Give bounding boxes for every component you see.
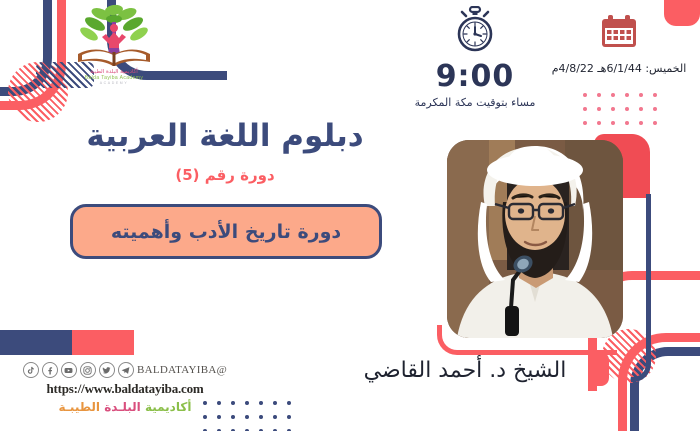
- telegram-icon[interactable]: [118, 362, 134, 378]
- poster-canvas: أكاديمية البلدة الطيبة Balda Tayiba Acad…: [0, 0, 700, 431]
- speaker-name: الشيخ د. أحمد القاضي: [330, 358, 600, 383]
- social-row: @BALDATAYIBA: [10, 362, 240, 378]
- academy-logo: أكاديمية البلدة الطيبة Balda Tayiba Acad…: [60, 4, 168, 96]
- tree-book-logo-icon: [75, 4, 153, 68]
- footer: @BALDATAYIBA https://www.baldatayiba.com: [10, 362, 240, 414]
- decor-bar-red: [72, 330, 134, 355]
- website-url[interactable]: https://www.baldatayiba.com: [10, 381, 240, 397]
- speaker-portrait-illustration: [447, 140, 623, 338]
- tiktok-icon[interactable]: [23, 362, 39, 378]
- instagram-icon[interactable]: [80, 362, 96, 378]
- date-block: الخميس: 6/1/44هـ 4/8/22م: [548, 14, 690, 75]
- academy-name-part2: البلـدة: [104, 400, 141, 414]
- decor-bar-navy: [0, 330, 72, 355]
- course-topic-label: دورة تاريخ الأدب وأهميته: [111, 221, 341, 243]
- calendar-icon: [599, 14, 639, 52]
- youtube-icon[interactable]: [61, 362, 77, 378]
- time-block: 9:00 مساء بتوقيت مكة المكرمة: [410, 6, 540, 111]
- social-handle: @BALDATAYIBA: [137, 364, 227, 376]
- speaker-portrait: [447, 140, 623, 338]
- time-value: 9:00: [410, 62, 540, 92]
- time-note: مساء بتوقيت مكة المكرمة: [410, 96, 540, 111]
- academy-name-part3: الطيبـة: [59, 400, 100, 414]
- facebook-icon[interactable]: [42, 362, 58, 378]
- speaker-photo-frame: [447, 140, 632, 345]
- decor-photo-edge-navy: [631, 194, 651, 382]
- academy-name-part1: أكاديمية: [145, 400, 191, 414]
- decor-dot-grid-pink: [578, 88, 662, 130]
- course-topic-banner: دورة تاريخ الأدب وأهميته: [70, 204, 382, 259]
- course-number: دورة رقم (5): [50, 166, 400, 184]
- academy-name: أكاديمية البلـدة الطيبـة: [10, 400, 240, 414]
- page-title: دبلوم اللغة العربية: [50, 118, 400, 154]
- twitter-icon[interactable]: [99, 362, 115, 378]
- date-value: الخميس: 6/1/44هـ 4/8/22م: [548, 62, 690, 75]
- logo-tagline: ACADEMY: [100, 81, 129, 85]
- stopwatch-icon: [452, 6, 498, 54]
